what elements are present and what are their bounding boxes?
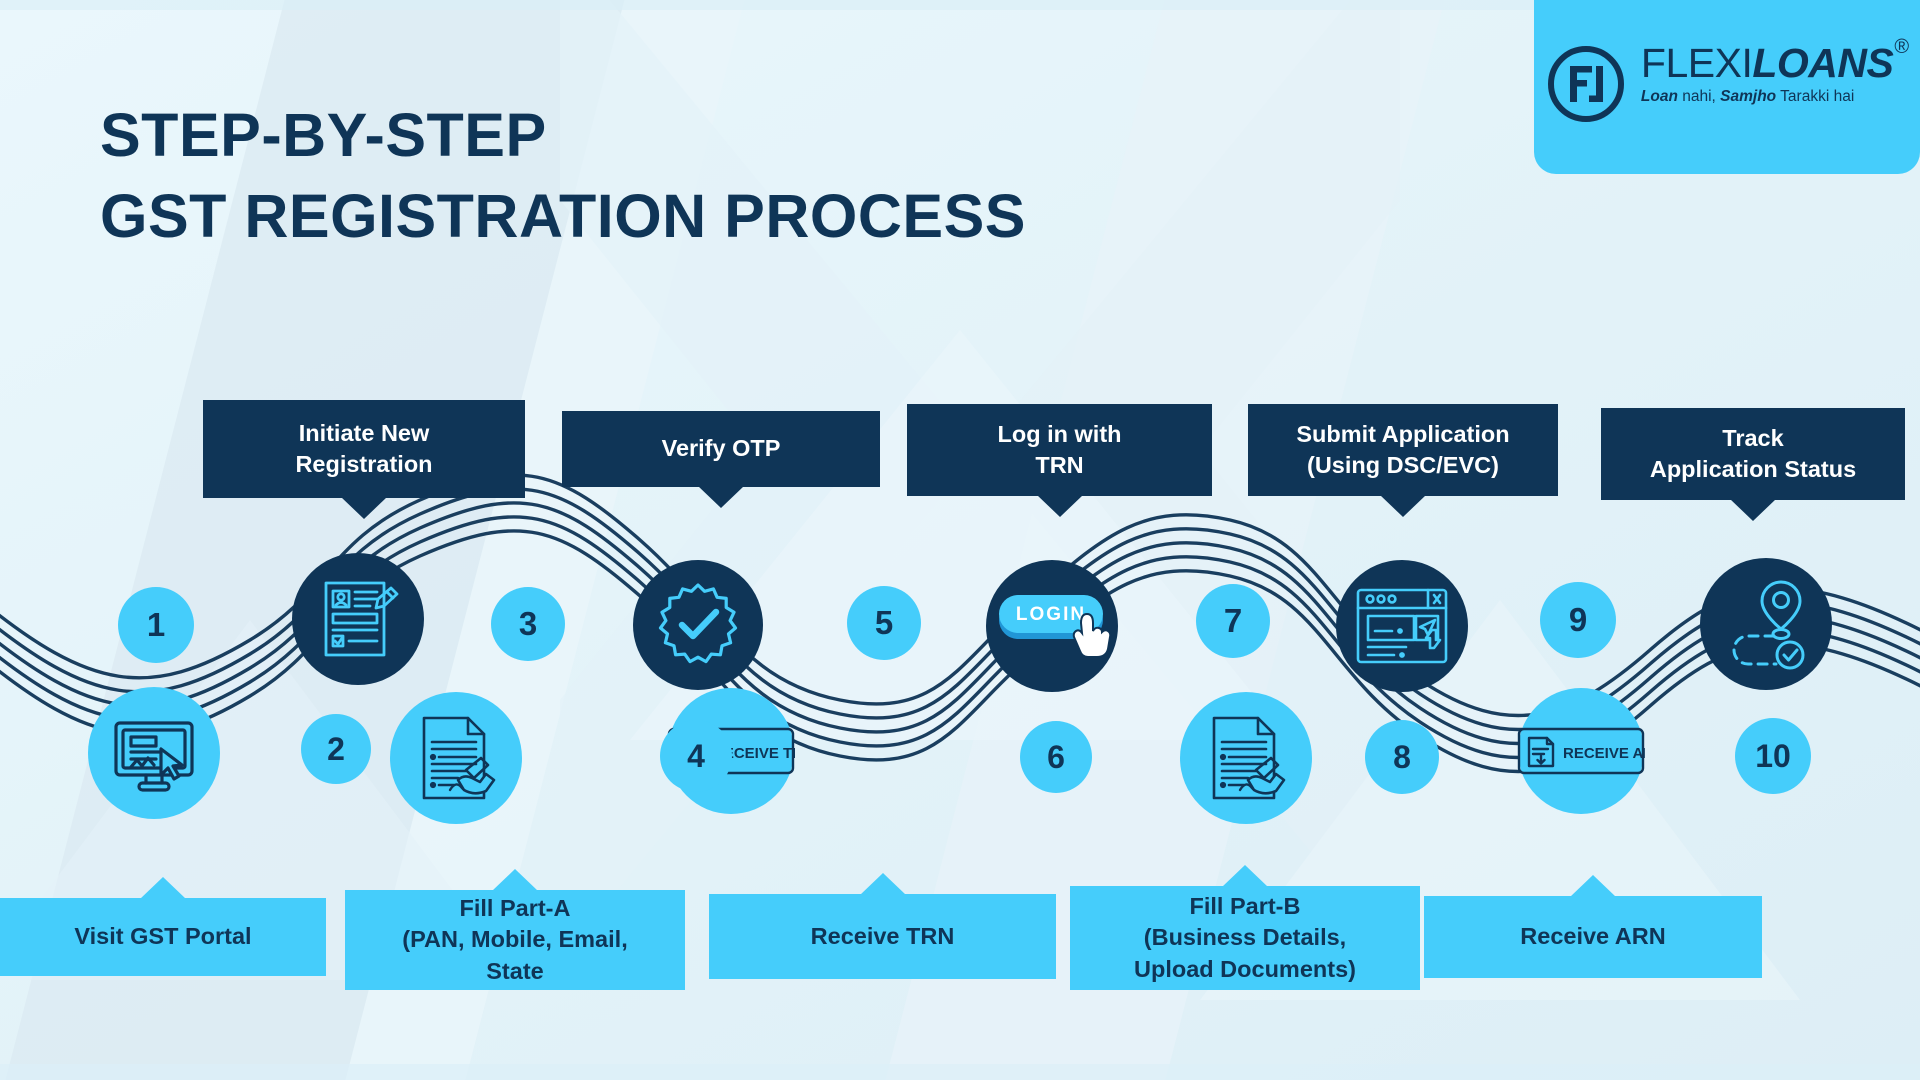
bottom-banner-step-9[interactable]: Receive ARN	[1424, 896, 1762, 978]
step-number-1-label: 1	[147, 606, 165, 644]
title-line-2: GST REGISTRATION PROCESS	[100, 176, 1026, 257]
step-number-3: 3	[491, 587, 565, 661]
receive-arn-badge-icon: RECEIVE ARN	[1517, 725, 1645, 777]
step-number-9-label: 9	[1569, 601, 1587, 639]
top-banner-step-2-line-2: Registration	[295, 449, 432, 480]
step-number-7-label: 7	[1224, 602, 1242, 640]
top-banner-step-8-line-1: Submit Application	[1296, 419, 1509, 450]
bottom-banner-step-3-line-3: State	[402, 956, 627, 987]
flexiloans-logo[interactable]: FLEXI LOANS ® Loan nahi, Samjho Tarakki …	[1534, 0, 1920, 174]
top-banner-step-6[interactable]: Log in with TRN	[907, 404, 1212, 496]
tagline-plain-1: nahi,	[1678, 88, 1720, 105]
step-number-1: 1	[118, 587, 194, 663]
bottom-banner-step-9-line-1: Receive ARN	[1520, 921, 1665, 952]
bottom-banner-step-3-line-2: (PAN, Mobile, Email,	[402, 924, 627, 955]
bottom-banner-step-7-line-3: Upload Documents)	[1134, 954, 1356, 985]
bottom-banner-pointer	[1570, 875, 1616, 897]
login-button-text: LOGIN	[1016, 604, 1086, 625]
top-banner-pointer	[1380, 495, 1426, 517]
top-banner-pointer	[1037, 495, 1083, 517]
browser-submit-send-icon	[1354, 586, 1450, 666]
bottom-banner-pointer	[860, 873, 906, 895]
node-step-6-login[interactable]: LOGIN	[986, 560, 1118, 692]
node-step-3-fill-part-a[interactable]	[390, 692, 522, 824]
top-banner-step-2-line-1: Initiate New	[295, 418, 432, 449]
top-banner-step-2[interactable]: Initiate New Registration	[203, 400, 525, 498]
node-step-10-track-status[interactable]	[1700, 558, 1832, 690]
document-signing-hand-icon	[1196, 708, 1296, 808]
node-step-8-submit-application[interactable]	[1336, 560, 1468, 692]
top-banner-step-10-line-2: Application Status	[1650, 454, 1856, 485]
step-number-9: 9	[1540, 582, 1616, 658]
step-number-10-label: 10	[1755, 738, 1791, 775]
logo-brand-light: FLEXI	[1641, 43, 1752, 84]
verified-badge-check-icon	[652, 579, 744, 671]
node-step-2-registration-form[interactable]	[292, 553, 424, 685]
step-number-2: 2	[301, 714, 371, 784]
top-banner-step-6-line-2: TRN	[998, 450, 1122, 481]
tagline-bold-2: Samjho	[1720, 88, 1776, 105]
top-banner-step-4-line-1: Verify OTP	[662, 433, 781, 464]
bottom-banner-step-7-line-2: (Business Details,	[1134, 922, 1356, 953]
map-pin-route-check-icon	[1718, 578, 1814, 670]
top-banner-step-8-line-2: (Using DSC/EVC)	[1296, 450, 1509, 481]
top-banner-step-6-line-1: Log in with	[998, 419, 1122, 450]
step-number-6-label: 6	[1047, 739, 1065, 776]
node-step-4-verify-otp[interactable]	[633, 560, 763, 690]
bottom-banner-step-7-line-1: Fill Part-B	[1134, 891, 1356, 922]
top-banner-step-4[interactable]: Verify OTP	[562, 411, 880, 487]
top-banner-step-10-line-1: Track	[1650, 423, 1856, 454]
bottom-banner-step-5-line-1: Receive TRN	[811, 921, 955, 952]
step-number-3-label: 3	[519, 605, 537, 643]
form-pencil-icon	[312, 573, 404, 665]
top-banner-pointer	[341, 497, 387, 519]
registered-trademark-icon: ®	[1894, 37, 1909, 57]
node-step-1-monitor[interactable]	[88, 687, 220, 819]
step-number-4-label: 4	[687, 738, 705, 775]
bottom-banner-pointer	[140, 877, 186, 899]
bottom-banner-step-1[interactable]: Visit GST Portal	[0, 898, 326, 976]
bottom-banner-step-3[interactable]: Fill Part-A (PAN, Mobile, Email, State	[345, 890, 685, 990]
bottom-banner-step-7[interactable]: Fill Part-B (Business Details, Upload Do…	[1070, 886, 1420, 990]
tagline-bold-1: Loan	[1641, 88, 1678, 105]
bottom-banner-step-5[interactable]: Receive TRN	[709, 894, 1056, 979]
top-banner-pointer	[698, 486, 744, 508]
step-number-6: 6	[1020, 721, 1092, 793]
top-banner-pointer	[1730, 499, 1776, 521]
bottom-banner-step-3-line-1: Fill Part-A	[402, 893, 627, 924]
login-button-cursor-icon: LOGIN	[989, 571, 1115, 681]
step-number-4: 4	[660, 720, 732, 792]
bottom-banner-pointer	[492, 869, 538, 891]
receive-arn-badge-text: RECEIVE ARN	[1563, 745, 1645, 762]
step-number-10: 10	[1735, 718, 1811, 794]
step-number-7: 7	[1196, 584, 1270, 658]
flexiloans-monogram-icon	[1545, 43, 1627, 130]
top-banner-step-8[interactable]: Submit Application (Using DSC/EVC)	[1248, 404, 1558, 496]
document-signing-hand-icon	[406, 708, 506, 808]
bottom-banner-step-1-line-1: Visit GST Portal	[74, 921, 251, 952]
title-line-1: STEP-BY-STEP	[100, 95, 1026, 176]
top-banner-step-10[interactable]: Track Application Status	[1601, 408, 1905, 500]
logo-tagline: Loan nahi, Samjho Tarakki hai	[1641, 88, 1854, 106]
infographic-canvas: STEP-BY-STEP GST REGISTRATION PROCESS FL…	[0, 0, 1920, 1080]
step-number-8: 8	[1365, 720, 1439, 794]
step-number-8-label: 8	[1393, 739, 1411, 776]
monitor-cursor-icon	[106, 705, 202, 801]
step-number-2-label: 2	[327, 731, 345, 768]
tagline-plain-2: Tarakki hai	[1776, 88, 1854, 105]
node-step-9-receive-arn[interactable]: RECEIVE ARN	[1518, 688, 1644, 814]
step-number-5-label: 5	[875, 604, 893, 642]
logo-brand-bold: LOANS	[1752, 43, 1893, 84]
node-step-7-fill-part-b[interactable]	[1180, 692, 1312, 824]
bottom-banner-pointer	[1222, 865, 1268, 887]
step-number-5: 5	[847, 586, 921, 660]
page-title: STEP-BY-STEP GST REGISTRATION PROCESS	[100, 95, 1026, 256]
